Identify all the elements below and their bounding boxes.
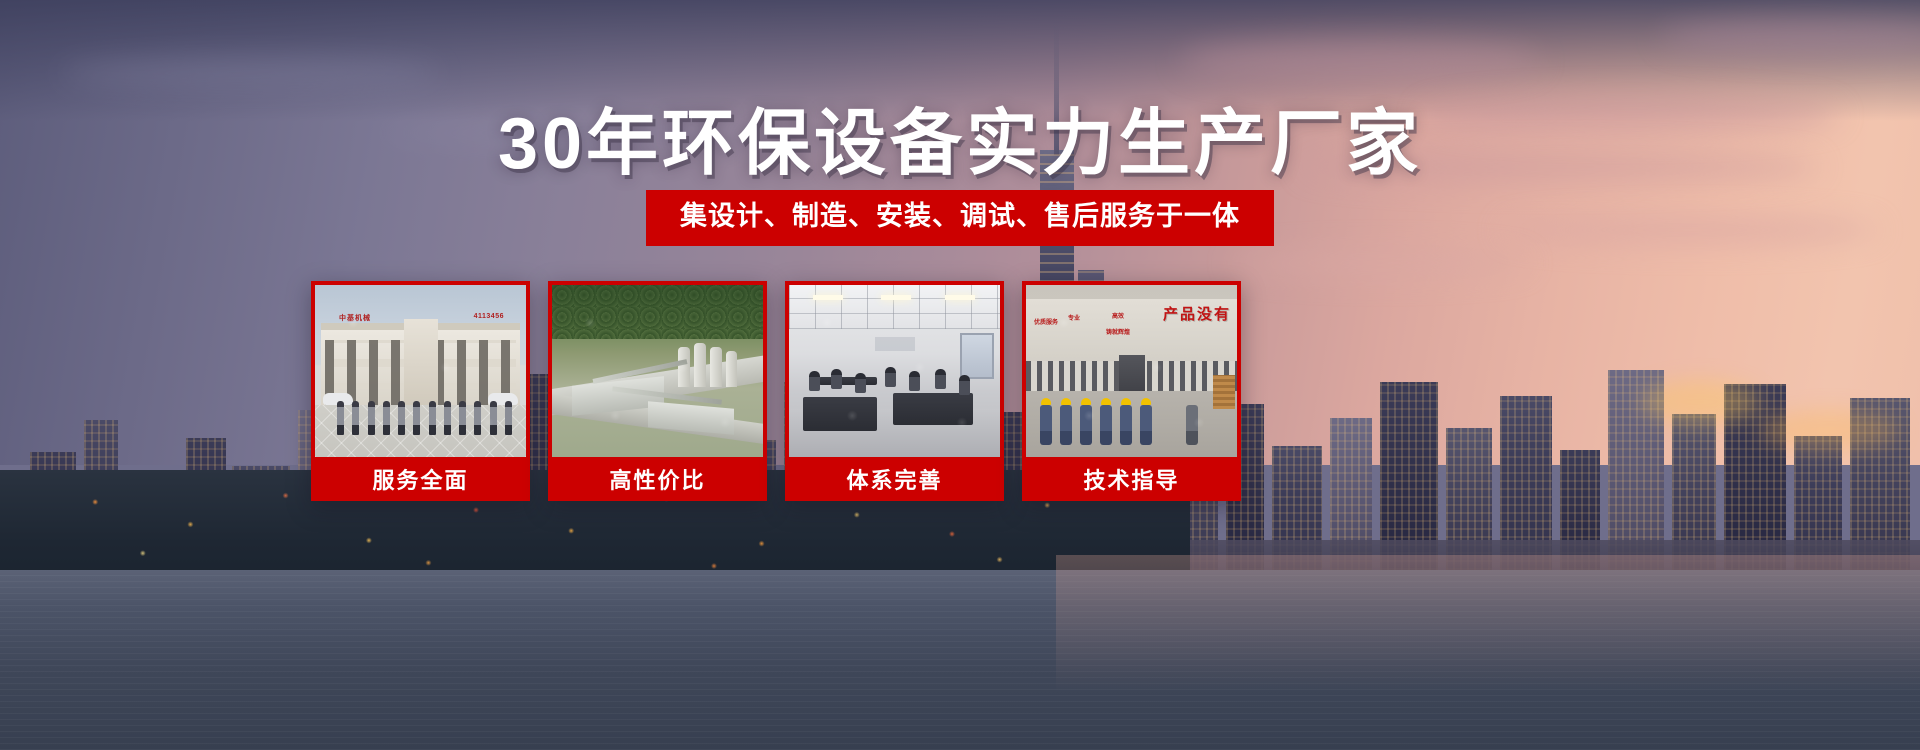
storage-silo bbox=[694, 343, 706, 387]
card-caption: 体系完善 bbox=[789, 457, 1000, 501]
office-worker bbox=[959, 375, 970, 395]
office-ceiling bbox=[789, 285, 1000, 329]
timber-stack bbox=[1213, 375, 1235, 409]
building-phone-label: 4113456 bbox=[474, 313, 504, 320]
ceiling-light bbox=[945, 295, 975, 300]
card-caption: 服务全面 bbox=[315, 457, 526, 501]
feature-card[interactable]: 高性价比 bbox=[548, 281, 767, 501]
card-caption: 高性价比 bbox=[552, 457, 763, 501]
building-entrance bbox=[404, 319, 438, 411]
cloud bbox=[1180, 40, 1540, 82]
staff-figure bbox=[459, 401, 466, 435]
hardhat-icon bbox=[1141, 398, 1151, 405]
office-window bbox=[960, 333, 994, 379]
staff-figure bbox=[368, 401, 375, 435]
card-caption: 技术指导 bbox=[1026, 457, 1237, 501]
office-worker bbox=[935, 369, 946, 389]
staff-figure bbox=[474, 401, 481, 435]
card-photo: 产品没有 优质服务 专业 高效 铸就辉煌 bbox=[1026, 285, 1237, 457]
staff-figure bbox=[398, 401, 405, 435]
staff-figure bbox=[413, 401, 420, 435]
office-worker bbox=[809, 371, 820, 391]
card-photo bbox=[789, 285, 1000, 457]
ceiling-light bbox=[813, 295, 843, 300]
factory-slogan: 高效 bbox=[1112, 313, 1124, 322]
hardhat-icon bbox=[1121, 398, 1131, 405]
office-desk bbox=[893, 393, 973, 425]
factory-banner-text: 产品没有 bbox=[1163, 303, 1231, 324]
hardhat-icon bbox=[1101, 398, 1111, 405]
subtitle-container: 集设计、制造、安装、调试、售后服务于一体 bbox=[0, 190, 1920, 246]
factory-worker bbox=[1120, 405, 1132, 445]
card-photo: 中基机械 4113456 bbox=[315, 285, 526, 457]
city-light-glow bbox=[1760, 410, 1900, 450]
aerial-treeline bbox=[552, 285, 763, 339]
factory-worker bbox=[1140, 405, 1152, 445]
staff-row bbox=[337, 401, 512, 435]
staff-figure bbox=[429, 401, 436, 435]
office-desk bbox=[819, 377, 877, 385]
staff-figure bbox=[505, 401, 512, 435]
office-worker bbox=[885, 367, 896, 387]
hardhat-icon bbox=[1041, 398, 1051, 405]
staff-figure bbox=[444, 401, 451, 435]
factory-worker bbox=[1040, 405, 1052, 445]
water-reflection-glow bbox=[1056, 555, 1920, 750]
feature-card[interactable]: 中基机械 4113456 服务全面 bbox=[311, 281, 530, 501]
staff-figure bbox=[490, 401, 497, 435]
factory-worker bbox=[1060, 405, 1072, 445]
storage-silo bbox=[710, 347, 722, 387]
office-worker bbox=[855, 373, 866, 393]
staff-figure bbox=[352, 401, 359, 435]
wall-sign bbox=[875, 337, 915, 351]
ceiling-light bbox=[881, 295, 911, 300]
office-worker bbox=[909, 371, 920, 391]
subtitle-badge: 集设计、制造、安装、调试、售后服务于一体 bbox=[646, 190, 1274, 246]
page-title: 30年环保设备实力生产厂家 bbox=[0, 108, 1920, 180]
factory-worker bbox=[1100, 405, 1112, 445]
storage-silo bbox=[726, 351, 737, 387]
hardhat-icon bbox=[1061, 398, 1071, 405]
plant-hall bbox=[648, 401, 734, 435]
building-sign-label: 中基机械 bbox=[339, 313, 371, 323]
storage-silo bbox=[678, 347, 690, 387]
staff-figure bbox=[383, 401, 390, 435]
hero-banner: 30年环保设备实力生产厂家 集设计、制造、安装、调试、售后服务于一体 中基机械 … bbox=[0, 0, 1920, 750]
factory-supervisor bbox=[1186, 405, 1198, 445]
factory-worker bbox=[1080, 405, 1092, 445]
staff-figure bbox=[337, 401, 344, 435]
factory-slogan: 优质服务 bbox=[1034, 319, 1058, 328]
feature-card-list: 中基机械 4113456 服务全面 bbox=[311, 281, 1241, 501]
card-photo bbox=[552, 285, 763, 457]
hardhat-icon bbox=[1081, 398, 1091, 405]
feature-card[interactable]: 体系完善 bbox=[785, 281, 1004, 501]
feature-card[interactable]: 产品没有 优质服务 专业 高效 铸就辉煌 技术指导 bbox=[1022, 281, 1241, 501]
office-worker bbox=[831, 369, 842, 389]
factory-slogan: 铸就辉煌 bbox=[1106, 329, 1130, 338]
factory-slogan: 专业 bbox=[1068, 315, 1080, 324]
cloud bbox=[60, 58, 440, 88]
office-desk bbox=[803, 397, 877, 431]
city-light-glow bbox=[1640, 380, 1760, 424]
